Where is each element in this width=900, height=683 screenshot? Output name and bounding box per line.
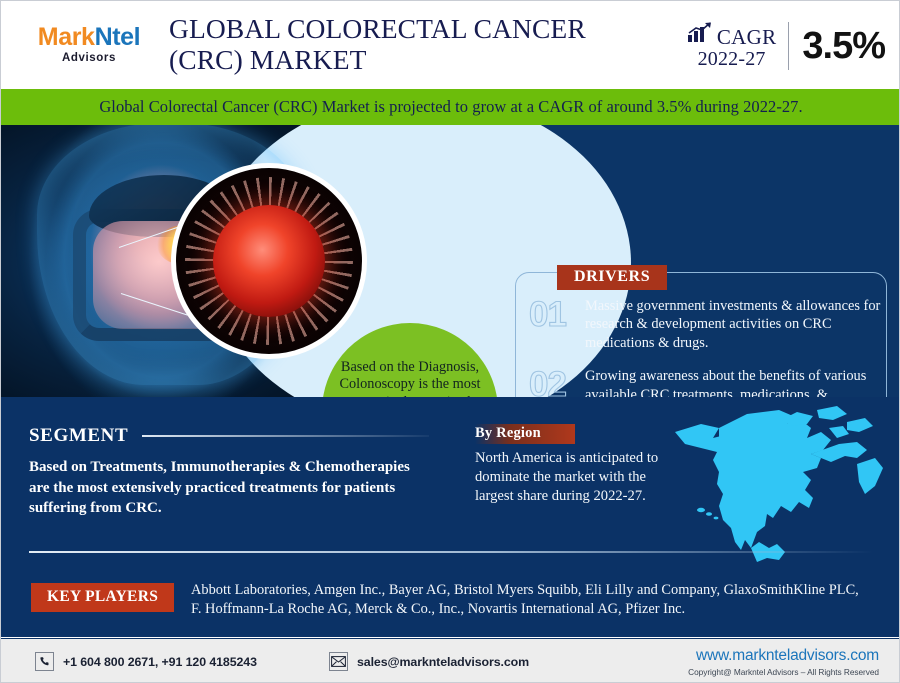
cagr-label-group: CAGR 2022-27 bbox=[687, 21, 789, 71]
page-title: GLOBAL COLORECTAL CANCER (CRC) MARKET bbox=[169, 14, 649, 76]
driver-number: 01 bbox=[529, 295, 585, 332]
north-america-map bbox=[661, 402, 897, 567]
footer-copyright: Copyright@ Markntel Advisors – All Right… bbox=[688, 667, 879, 677]
brand-logo[interactable]: MarkNtel Advisors bbox=[19, 25, 159, 64]
key-players-text: Abbott Laboratories, Amgen Inc., Bayer A… bbox=[191, 581, 861, 619]
header: MarkNtel Advisors GLOBAL COLORECTAL CANC… bbox=[1, 1, 900, 89]
region-badge-label: By Region bbox=[475, 424, 545, 444]
footer-phone[interactable]: +1 604 800 2671, +91 120 4185243 bbox=[35, 652, 257, 671]
segment-rule bbox=[142, 435, 429, 437]
footer-brand: www.marknteladvisors.com Copyright@ Mark… bbox=[688, 647, 879, 677]
diagnosis-callout-text: Based on the Diagnosis, Colonoscopy is t… bbox=[338, 359, 482, 397]
envelope-icon bbox=[329, 652, 348, 671]
phone-icon bbox=[35, 652, 54, 671]
infographic-page: MarkNtel Advisors GLOBAL COLORECTAL CANC… bbox=[0, 0, 900, 683]
logo-mark-text: Mark bbox=[38, 23, 95, 51]
logo-wordmark: MarkNtel bbox=[19, 25, 159, 50]
cagr-years: 2022-27 bbox=[698, 48, 766, 71]
footer-email-text: sales@marknteladvisors.com bbox=[357, 655, 529, 669]
region-badge: By Region bbox=[475, 424, 545, 444]
footer: +1 604 800 2671, +91 120 4185243 sales@m… bbox=[1, 638, 900, 683]
drivers-badge: DRIVERS bbox=[557, 265, 667, 290]
segment-title: SEGMENT bbox=[29, 425, 128, 447]
region-text: North America is anticipated to dominate… bbox=[475, 449, 670, 506]
cagr-value: 3.5% bbox=[789, 27, 885, 65]
section-divider bbox=[29, 551, 873, 553]
drivers-list: 01 Massive government investments & allo… bbox=[529, 295, 885, 397]
headline-banner: Global Colorectal Cancer (CRC) Market is… bbox=[1, 89, 900, 125]
bar-chart-growth-icon bbox=[687, 21, 713, 48]
segment-heading: SEGMENT bbox=[29, 425, 429, 447]
hero-section: Based on the Diagnosis, Colonoscopy is t… bbox=[1, 125, 900, 397]
driver-text: Massive government investments & allowan… bbox=[585, 295, 885, 352]
cancer-cell-core bbox=[213, 205, 325, 317]
footer-website-link[interactable]: www.marknteladvisors.com bbox=[688, 647, 879, 665]
key-players-badge: KEY PLAYERS bbox=[31, 583, 174, 612]
cagr-label: CAGR bbox=[717, 27, 777, 48]
cagr-block: CAGR 2022-27 3.5% bbox=[687, 17, 885, 75]
segment-text: Based on Treatments, Immunotherapies & C… bbox=[29, 457, 419, 519]
footer-email[interactable]: sales@marknteladvisors.com bbox=[329, 652, 529, 671]
logo-subtitle: Advisors bbox=[19, 52, 159, 64]
driver-text: Growing awareness about the benefits of … bbox=[585, 365, 885, 397]
cagr-label-row: CAGR bbox=[687, 21, 777, 48]
driver-number: 02 bbox=[529, 365, 585, 397]
driver-item: 01 Massive government investments & allo… bbox=[529, 295, 885, 352]
logo-ntel-text: Ntel bbox=[95, 23, 141, 51]
footer-phone-text: +1 604 800 2671, +91 120 4185243 bbox=[63, 655, 257, 669]
headline-banner-text: Global Colorectal Cancer (CRC) Market is… bbox=[99, 97, 802, 117]
cancer-cell-magnifier bbox=[171, 163, 367, 359]
driver-item: 02 Growing awareness about the benefits … bbox=[529, 365, 885, 397]
